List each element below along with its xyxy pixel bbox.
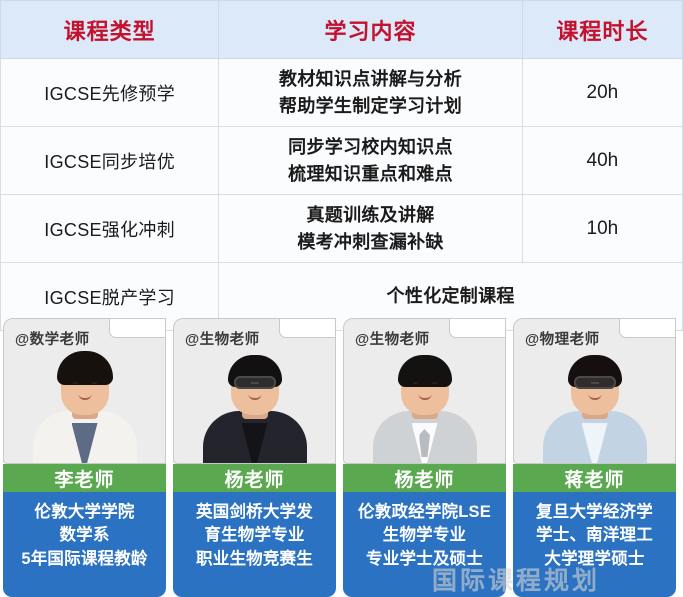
teacher-portrait xyxy=(4,345,165,463)
teacher-credentials: 伦敦政经学院LSE 生物学专业 专业学士及硕士 xyxy=(343,492,506,597)
credential-line: 5年国际课程教龄 xyxy=(7,548,162,571)
teacher-card[interactable]: @生物老师 杨老师 英国剑桥大学发 育生物学专业 职业生物竞赛生 xyxy=(173,318,336,597)
credential-line: 大学理学硕士 xyxy=(517,548,672,571)
credential-line: 职业生物竞赛生 xyxy=(177,548,332,571)
content-line: 梳理知识重点和难点 xyxy=(220,161,520,188)
credential-line: 生物学专业 xyxy=(347,524,502,547)
content-line: 教材知识点讲解与分析 xyxy=(220,66,520,93)
course-table: 课程类型 学习内容 课程时长 IGCSE先修预学 教材知识点讲解与分析 帮助学生… xyxy=(0,0,683,331)
teacher-handle: @物理老师 xyxy=(525,328,600,349)
cell-study-content: 同步学习校内知识点 梳理知识重点和难点 xyxy=(219,127,522,195)
credential-line: 专业学士及硕士 xyxy=(347,548,502,571)
teacher-photo-panel: @物理老师 xyxy=(513,318,676,464)
table-row: IGCSE强化冲刺 真题训练及讲解 模考冲刺查漏补缺 10h xyxy=(1,195,683,263)
credential-line: 育生物学专业 xyxy=(177,524,332,547)
cell-study-content: 教材知识点讲解与分析 帮助学生制定学习计划 xyxy=(219,59,522,127)
content-line: 帮助学生制定学习计划 xyxy=(220,93,520,120)
header-course-duration: 课程时长 xyxy=(522,1,682,59)
teacher-name-banner: 杨老师 xyxy=(343,464,506,492)
cell-course-type: IGCSE先修预学 xyxy=(1,59,219,127)
credential-line: 复旦大学经济学 xyxy=(517,501,672,524)
credential-line: 数学系 xyxy=(7,524,162,547)
teacher-credentials: 复旦大学经济学 学士、南洋理工 大学理学硕士 xyxy=(513,492,676,597)
folder-tab-cut xyxy=(449,319,505,338)
credential-line: 伦敦大学学院 xyxy=(7,501,162,524)
cell-course-duration: 40h xyxy=(522,127,682,195)
table-header-row: 课程类型 学习内容 课程时长 xyxy=(1,1,683,59)
teacher-name-banner: 李老师 xyxy=(3,464,166,492)
cell-course-type: IGCSE强化冲刺 xyxy=(1,195,219,263)
teacher-portrait xyxy=(514,345,675,463)
teacher-photo-panel: @生物老师 xyxy=(173,318,336,464)
credential-line: 伦敦政经学院LSE xyxy=(347,501,502,524)
folder-tab-cut xyxy=(619,319,675,338)
folder-tab-cut xyxy=(109,319,165,338)
content-line: 个性化定制课程 xyxy=(220,283,681,310)
teacher-card[interactable]: @数学老师 李老师 伦敦大学学院 数学系 5年国际课程教龄 xyxy=(3,318,166,597)
teacher-photo-panel: @生物老师 xyxy=(343,318,506,464)
content-line: 模考冲刺查漏补缺 xyxy=(220,229,520,256)
teacher-name-banner: 杨老师 xyxy=(173,464,336,492)
header-course-type: 课程类型 xyxy=(1,1,219,59)
credential-line: 学士、南洋理工 xyxy=(517,524,672,547)
teacher-handle: @数学老师 xyxy=(15,328,90,349)
cell-course-duration: 10h xyxy=(522,195,682,263)
teacher-portrait xyxy=(174,345,335,463)
teacher-card-strip: @数学老师 李老师 伦敦大学学院 数学系 5年国际课程教龄 @生物老师 xyxy=(0,318,683,597)
cell-study-content: 真题训练及讲解 模考冲刺查漏补缺 xyxy=(219,195,522,263)
teacher-photo-panel: @数学老师 xyxy=(3,318,166,464)
teacher-credentials: 英国剑桥大学发 育生物学专业 职业生物竞赛生 xyxy=(173,492,336,597)
table-row: IGCSE先修预学 教材知识点讲解与分析 帮助学生制定学习计划 20h xyxy=(1,59,683,127)
teacher-handle: @生物老师 xyxy=(355,328,430,349)
teacher-card[interactable]: @生物老师 杨老师 伦敦政经学院LSE 生物学专业 专业学士及硕士 xyxy=(343,318,506,597)
glasses-icon xyxy=(574,376,616,389)
content-line: 同步学习校内知识点 xyxy=(220,134,520,161)
teacher-credentials: 伦敦大学学院 数学系 5年国际课程教龄 xyxy=(3,492,166,597)
cell-course-type: IGCSE同步培优 xyxy=(1,127,219,195)
header-study-content: 学习内容 xyxy=(219,1,522,59)
teacher-portrait xyxy=(344,345,505,463)
cell-course-duration: 20h xyxy=(522,59,682,127)
folder-tab-cut xyxy=(279,319,335,338)
teacher-name-banner: 蒋老师 xyxy=(513,464,676,492)
teacher-handle: @生物老师 xyxy=(185,328,260,349)
content-line: 真题训练及讲解 xyxy=(220,202,520,229)
credential-line: 英国剑桥大学发 xyxy=(177,501,332,524)
teacher-card[interactable]: @物理老师 蒋老师 复旦大学经济学 学士、南洋理工 大学理学硕士 xyxy=(513,318,676,597)
table-row: IGCSE同步培优 同步学习校内知识点 梳理知识重点和难点 40h xyxy=(1,127,683,195)
glasses-icon xyxy=(234,376,276,389)
